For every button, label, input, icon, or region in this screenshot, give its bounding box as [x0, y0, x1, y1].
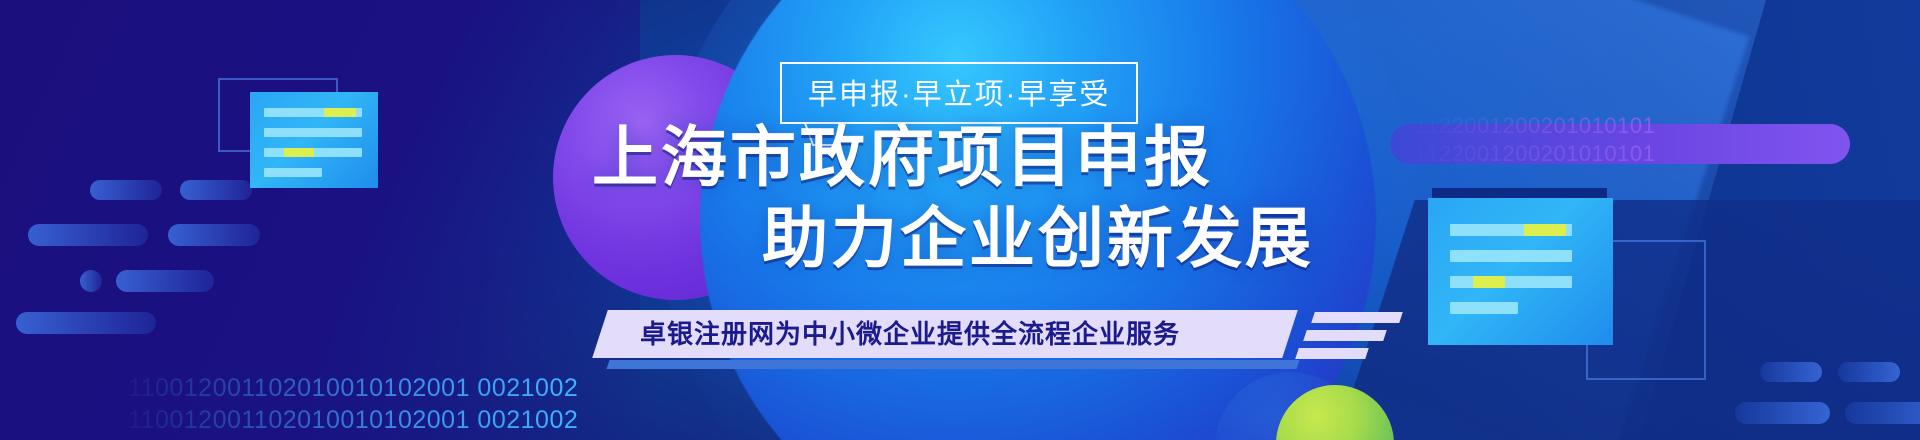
stripe — [1295, 348, 1369, 359]
stripe — [1303, 330, 1387, 341]
promo-banner: 110012001102010010102001 0021002 1100120… — [0, 0, 1920, 440]
subtitle-text: 卓银注册网为中小微企业提供全流程企业服务 — [640, 318, 1250, 350]
page-title: 上海市政府项目申报 助力企业创新发展 — [592, 120, 1314, 276]
tagline-callout: 早申报·早立项·早享受 — [780, 62, 1138, 124]
subtitle-bar: 卓银注册网为中小微企业提供全流程企业服务 — [592, 310, 1298, 358]
subtitle-underline — [607, 360, 1300, 369]
banner-content: 早申报·早立项·早享受 上海市政府项目申报 助力企业创新发展 卓银注册网为中小微… — [0, 0, 1920, 440]
stripe — [1311, 312, 1403, 323]
subtitle-stripes — [1297, 312, 1401, 366]
headline-line-1: 上海市政府项目申报 — [592, 120, 1213, 194]
subtitle-banner: 卓银注册网为中小微企业提供全流程企业服务 — [600, 310, 1290, 358]
headline-line-2: 助力企业创新发展 — [762, 201, 1314, 276]
